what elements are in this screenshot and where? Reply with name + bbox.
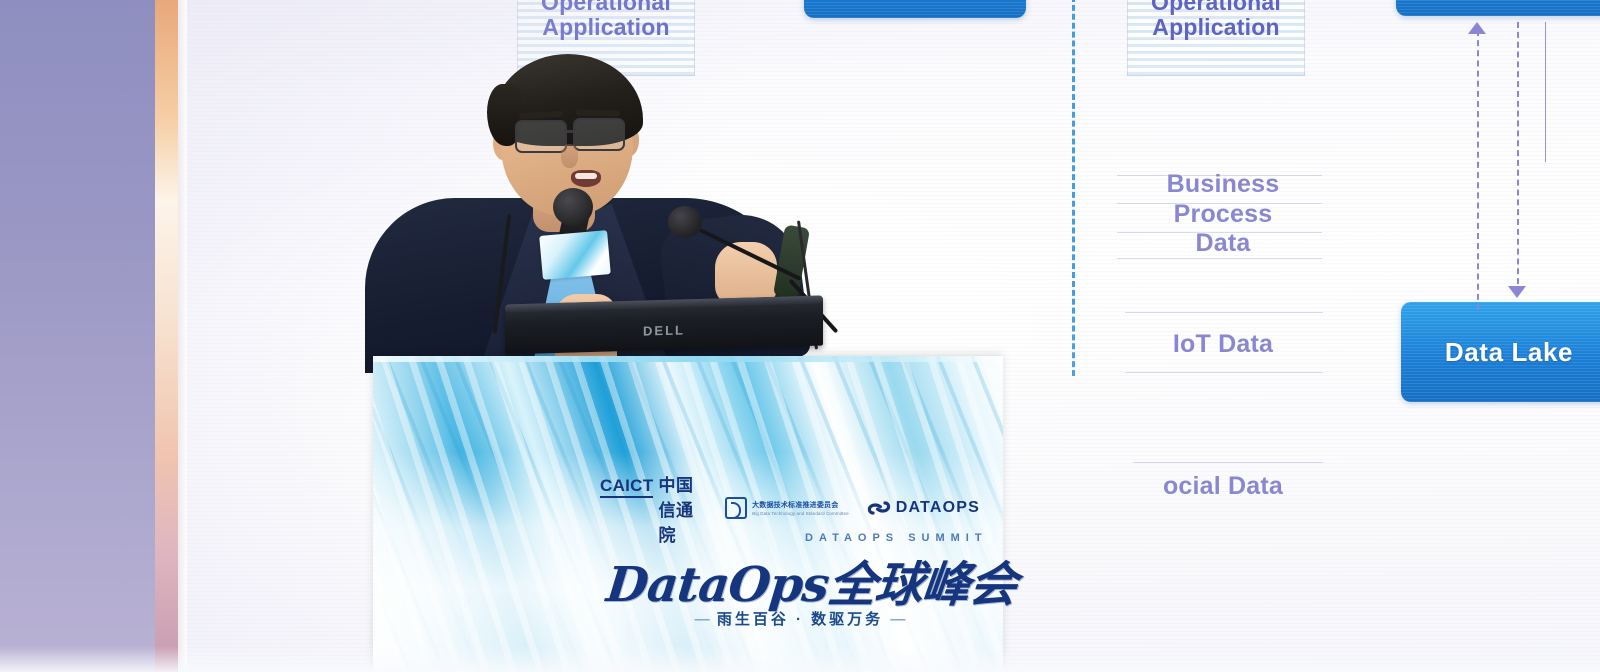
stand-microphone-head xyxy=(668,206,702,238)
caict-logo-cn: 中国信通院 xyxy=(658,471,707,546)
dataops-swirl-icon xyxy=(867,496,891,520)
summit-kicker-text: DATAOPS SUMMIT xyxy=(805,532,988,544)
caict-logo: CAICT 中国信通院 xyxy=(600,471,707,546)
tagline-dash-left: — xyxy=(695,611,710,628)
dataops-wordmark: DATAOPS xyxy=(896,499,980,517)
photo-stage: Operational Application Operational Appl… xyxy=(0,0,1600,672)
handheld-microphone-head xyxy=(553,188,593,226)
speaker-nose xyxy=(561,144,578,168)
podium-top-edge xyxy=(373,356,1003,362)
left-wall-panel xyxy=(0,0,155,672)
bdtc-logo-cn: 大数据技术标准推进委员会 xyxy=(752,500,849,510)
wall-screen-seam xyxy=(178,0,187,672)
bdtc-logo: 大数据技术标准推进委员会 Big Data Technology and Sta… xyxy=(725,497,849,519)
tagline-dash-right: — xyxy=(890,611,905,628)
bottom-vignette xyxy=(0,646,1600,672)
eyeglasses-lens-right xyxy=(573,118,625,151)
laptop-brand-logo: DELL xyxy=(635,321,693,339)
podium-logo-row: CAICT 中国信通院 大数据技术标准推进委员会 Big Data Techno… xyxy=(600,492,980,524)
bdtc-d-mark-icon xyxy=(725,497,747,519)
summit-title: DataOps全球峰会 xyxy=(605,545,981,603)
speaker-teeth xyxy=(575,173,597,179)
microphone-branded-flag xyxy=(539,230,611,280)
caict-logo-en: CAICT xyxy=(600,475,653,498)
bdtc-logo-en: Big Data Technology and Standard Committ… xyxy=(752,511,849,516)
eyeglasses-lens-left xyxy=(515,120,567,153)
tagline-text: 雨生百谷 · 数驱万务 xyxy=(717,611,883,628)
dataops-logo: DATAOPS xyxy=(867,496,980,520)
eyeglasses-bridge xyxy=(566,130,575,133)
summit-tagline: — 雨生百谷 · 数驱万务 — xyxy=(660,608,940,629)
